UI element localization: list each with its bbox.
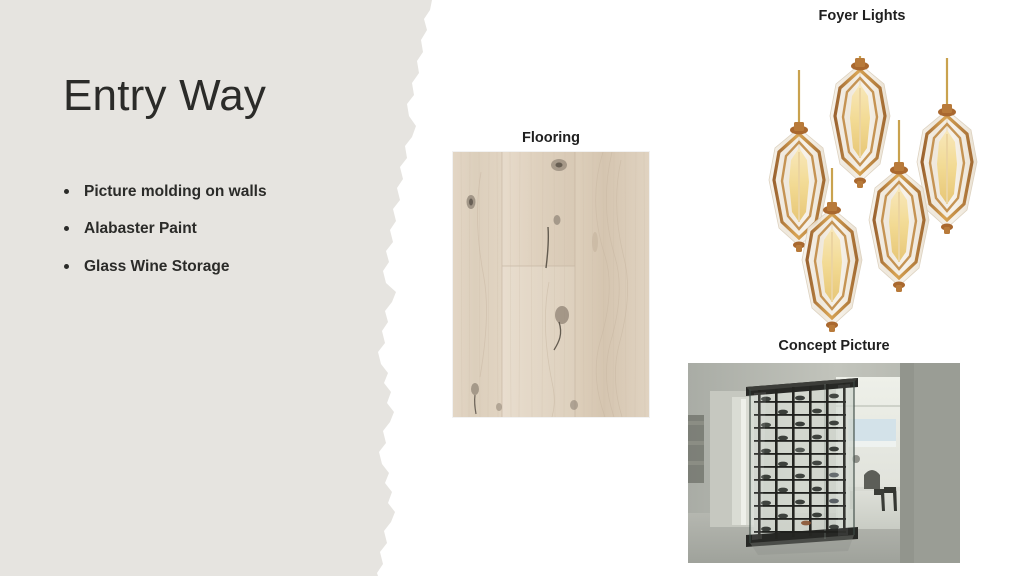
list-item: Glass Wine Storage <box>63 257 363 276</box>
feature-list: Picture molding on walls Alabaster Paint… <box>63 182 363 294</box>
slide-canvas: Entry Way Picture molding on walls Alaba… <box>0 0 1024 576</box>
concept-picture-caption: Concept Picture <box>720 338 948 354</box>
list-item: Picture molding on walls <box>63 182 363 201</box>
page-title: Entry Way <box>63 72 266 120</box>
bullet-dot-icon <box>64 189 69 194</box>
concept-picture-image <box>688 363 960 563</box>
left-panel: Entry Way Picture molding on walls Alaba… <box>0 0 440 576</box>
list-item-label: Glass Wine Storage <box>84 258 229 275</box>
bullet-dot-icon <box>64 264 69 269</box>
foyer-lights-caption: Foyer Lights <box>782 8 942 24</box>
list-item-label: Alabaster Paint <box>84 220 197 237</box>
list-item-label: Picture molding on walls <box>84 183 267 200</box>
flooring-caption: Flooring <box>453 130 649 146</box>
flooring-swatch-image <box>453 152 649 417</box>
bullet-dot-icon <box>64 226 69 231</box>
list-item: Alabaster Paint <box>63 219 363 238</box>
foyer-lights-image <box>744 28 1016 336</box>
